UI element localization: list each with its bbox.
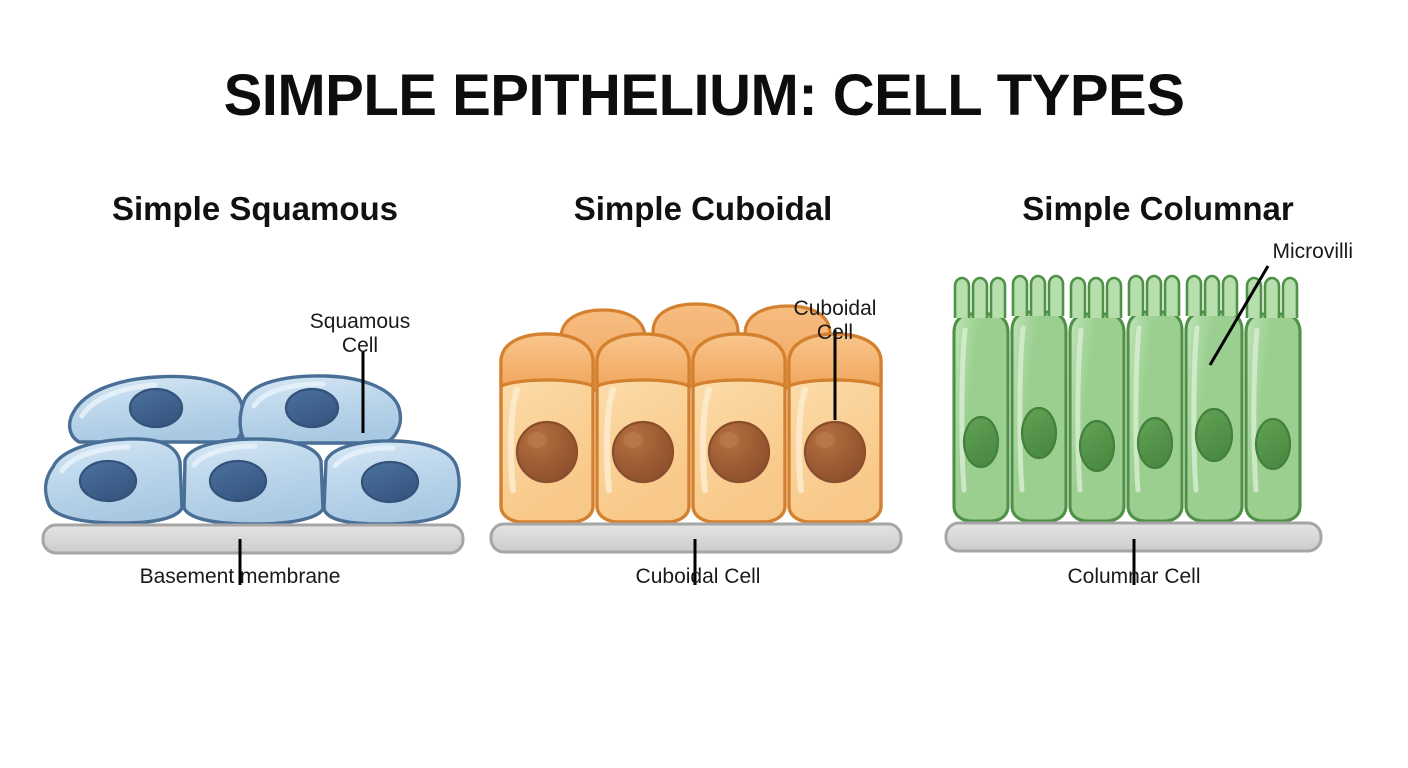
nucleus — [613, 422, 673, 482]
label-squamous-cell: Squamous Cell — [255, 310, 465, 358]
nucleus — [130, 389, 182, 427]
cuboidal-cell-2 — [597, 334, 689, 522]
columnar-cell-6 — [1246, 314, 1300, 521]
page-title: SIMPLE EPITHELIUM: CELL TYPES — [0, 62, 1408, 129]
squamous-diagram — [35, 190, 475, 620]
nucleus — [709, 422, 769, 482]
cuboidal-diagram — [483, 190, 923, 620]
squamous-cell-bottom-right — [324, 441, 459, 524]
nucleus — [1256, 419, 1290, 469]
columnar-cell-3 — [1070, 314, 1124, 521]
label-columnar-cell: Columnar Cell — [964, 565, 1304, 589]
nucleus — [286, 389, 338, 427]
nucleus — [805, 422, 865, 482]
nucleus — [964, 417, 998, 467]
nucleus — [362, 462, 418, 502]
squamous-cell-top-left — [70, 377, 244, 442]
nucleus — [210, 461, 266, 501]
basement-membrane — [43, 525, 463, 553]
columnar-cell-5 — [1186, 312, 1242, 521]
columnar-cell-2 — [1012, 312, 1066, 521]
nucleus — [1080, 421, 1114, 471]
squamous-cell-bottom-left — [46, 439, 182, 523]
label-basement-membrane: Basement membrane — [70, 565, 410, 589]
panel-simple-cuboidal: Simple Cuboidal — [483, 190, 923, 620]
label-cuboidal-cell-bottom: Cuboidal Cell — [528, 565, 868, 589]
label-microvilli: Microvilli — [1118, 240, 1353, 264]
columnar-cells — [954, 312, 1300, 521]
nucleus — [1138, 418, 1172, 468]
nucleus — [80, 461, 136, 501]
panel-simple-columnar: Simple Columnar — [938, 190, 1378, 620]
label-cuboidal-cell-top: Cuboidal Cell — [735, 297, 935, 345]
squamous-cell-top-right — [240, 376, 400, 443]
nucleus — [517, 422, 577, 482]
nucleus — [1196, 409, 1232, 461]
microvilli — [955, 276, 1297, 318]
cuboidal-cell-1 — [501, 334, 593, 522]
squamous-cell-bottom-center — [184, 439, 323, 524]
cuboidal-cell-3 — [693, 334, 785, 522]
columnar-cell-4 — [1128, 312, 1182, 521]
panel-simple-squamous: Simple Squamous — [35, 190, 475, 620]
columnar-cell-1 — [954, 314, 1008, 521]
nucleus — [1022, 408, 1056, 458]
